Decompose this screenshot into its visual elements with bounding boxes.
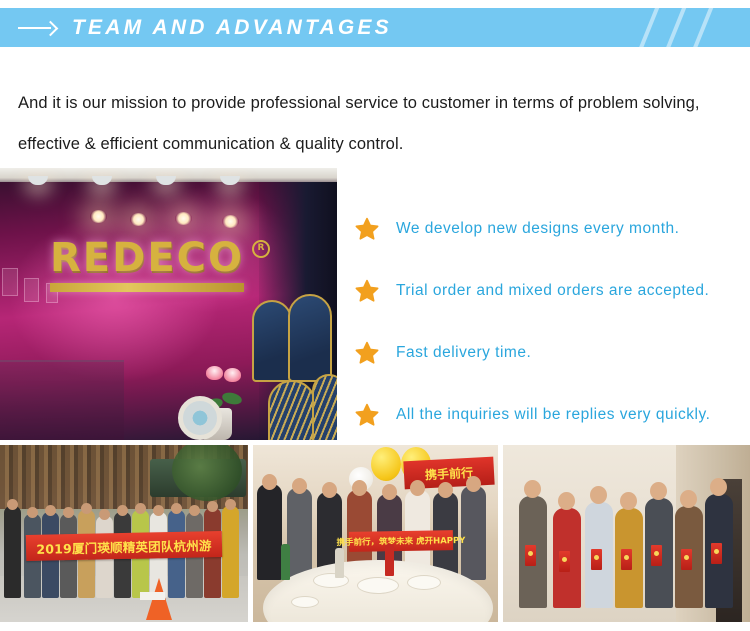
striped-chair — [268, 380, 316, 440]
flower-icon — [224, 368, 241, 382]
person-head — [590, 486, 607, 504]
person-head — [45, 505, 56, 516]
person-head — [438, 482, 453, 498]
wall-frame — [24, 278, 39, 302]
middle-section: REDECO R We develop new designs every mo… — [0, 168, 750, 440]
ship-wheel-decor — [178, 396, 222, 440]
person-figure — [222, 506, 239, 598]
photo-gallery-row: 2019厦门瑛顺精英团队杭州游 携手前行 携手前行，筑梦未来 虎开HAPPY — [0, 445, 750, 622]
redeco-logo-text: REDECO — [50, 236, 250, 280]
banner-content: TEAM AND ADVANTAGES — [18, 8, 392, 47]
slash-line-3 — [690, 8, 716, 47]
red-envelope-icon — [525, 545, 536, 566]
person-head — [153, 505, 164, 516]
red-envelope-icon — [711, 543, 722, 564]
person-head — [63, 507, 74, 518]
advantage-text: Trial order and mixed orders are accepte… — [396, 282, 709, 300]
slash-line-1 — [636, 8, 662, 47]
person-head — [352, 480, 367, 496]
table-banner: 携手前行，筑梦未来 虎开HAPPY — [349, 530, 453, 552]
advantage-item: We develop new designs every month. — [354, 198, 750, 260]
person-head — [322, 482, 337, 498]
person-head — [292, 478, 307, 494]
red-envelope-icon — [559, 551, 570, 572]
person-head — [524, 480, 541, 498]
star-icon — [354, 217, 380, 242]
person-head — [410, 480, 425, 496]
team-trip-photo: 2019厦门瑛顺精英团队杭州游 — [0, 445, 248, 622]
person-head — [207, 501, 218, 512]
dish-plate — [407, 575, 441, 590]
person-head — [171, 503, 182, 514]
team-banner-text: 2019厦门瑛顺精英团队杭州游 — [36, 535, 212, 558]
bottle-icon — [335, 548, 344, 578]
intro-paragraph: And it is our mission to provide profess… — [18, 83, 732, 165]
advantage-text: Fast delivery time. — [396, 344, 531, 362]
advantage-text: All the inquiries will be replies very q… — [396, 406, 710, 424]
arrow-right-icon — [18, 22, 58, 34]
advantage-item: Trial order and mixed orders are accepte… — [354, 260, 750, 322]
bottle-icon — [385, 544, 394, 576]
team-dinner-photo: 携手前行 携手前行，筑梦未来 虎开HAPPY — [253, 445, 498, 622]
balloon-icon — [371, 447, 401, 481]
team-banner: 2019厦门瑛顺精英团队杭州游 — [26, 531, 223, 561]
slash-line-2 — [663, 8, 689, 47]
redeco-logo: REDECO R — [50, 236, 250, 292]
bottle-icon — [281, 544, 290, 580]
star-icon — [354, 403, 380, 428]
striped-chair — [312, 374, 337, 440]
traffic-cone-band — [140, 592, 165, 600]
showroom-counter — [0, 360, 124, 440]
page-title: TEAM AND ADVANTAGES — [72, 16, 392, 40]
office-group-photo — [503, 445, 750, 622]
person-head — [225, 499, 236, 510]
star-icon — [354, 279, 380, 304]
person-head — [620, 492, 637, 510]
person-figure — [257, 484, 282, 580]
spotlight-glow-icon — [222, 215, 239, 228]
person-head — [558, 492, 575, 510]
advantage-item: Fast delivery time. — [354, 322, 750, 384]
person-head — [650, 482, 667, 500]
red-envelope-icon — [651, 545, 662, 566]
advantages-list: We develop new designs every month. Tria… — [354, 198, 750, 446]
slash-decoration-icon — [621, 8, 736, 47]
dish-plate — [357, 577, 399, 594]
blue-chair — [252, 300, 292, 382]
person-head — [27, 507, 38, 518]
person-head — [466, 476, 481, 492]
spotlight-glow-icon — [90, 210, 107, 223]
wall-frame — [2, 268, 18, 296]
registered-trademark-icon: R — [252, 240, 270, 258]
person-head — [81, 503, 92, 514]
dish-plate — [291, 596, 319, 608]
person-head — [382, 484, 397, 500]
person-head — [7, 499, 18, 510]
person-head — [710, 478, 727, 496]
red-envelope-icon — [591, 549, 602, 570]
advantage-text: We develop new designs every month. — [396, 220, 679, 238]
person-head — [680, 490, 697, 508]
person-head — [262, 474, 277, 490]
blue-chair — [288, 294, 332, 382]
advantage-item: All the inquiries will be replies very q… — [354, 384, 750, 446]
red-envelope-icon — [681, 549, 692, 570]
person-figure — [4, 506, 21, 598]
person-head — [189, 505, 200, 516]
redeco-logo-underline — [50, 283, 244, 292]
person-head — [99, 509, 110, 520]
spotlight-glow-icon — [130, 213, 147, 226]
table-banner-text: 携手前行，筑梦未来 虎开HAPPY — [337, 534, 466, 548]
red-envelope-icon — [621, 549, 632, 570]
spotlight-glow-icon — [175, 212, 192, 225]
person-head — [117, 505, 128, 516]
person-figure — [287, 488, 312, 580]
star-icon — [354, 341, 380, 366]
flower-icon — [206, 366, 223, 380]
showroom-photo: REDECO R — [0, 168, 337, 440]
section-header-banner: TEAM AND ADVANTAGES — [0, 8, 750, 47]
person-head — [135, 503, 146, 514]
